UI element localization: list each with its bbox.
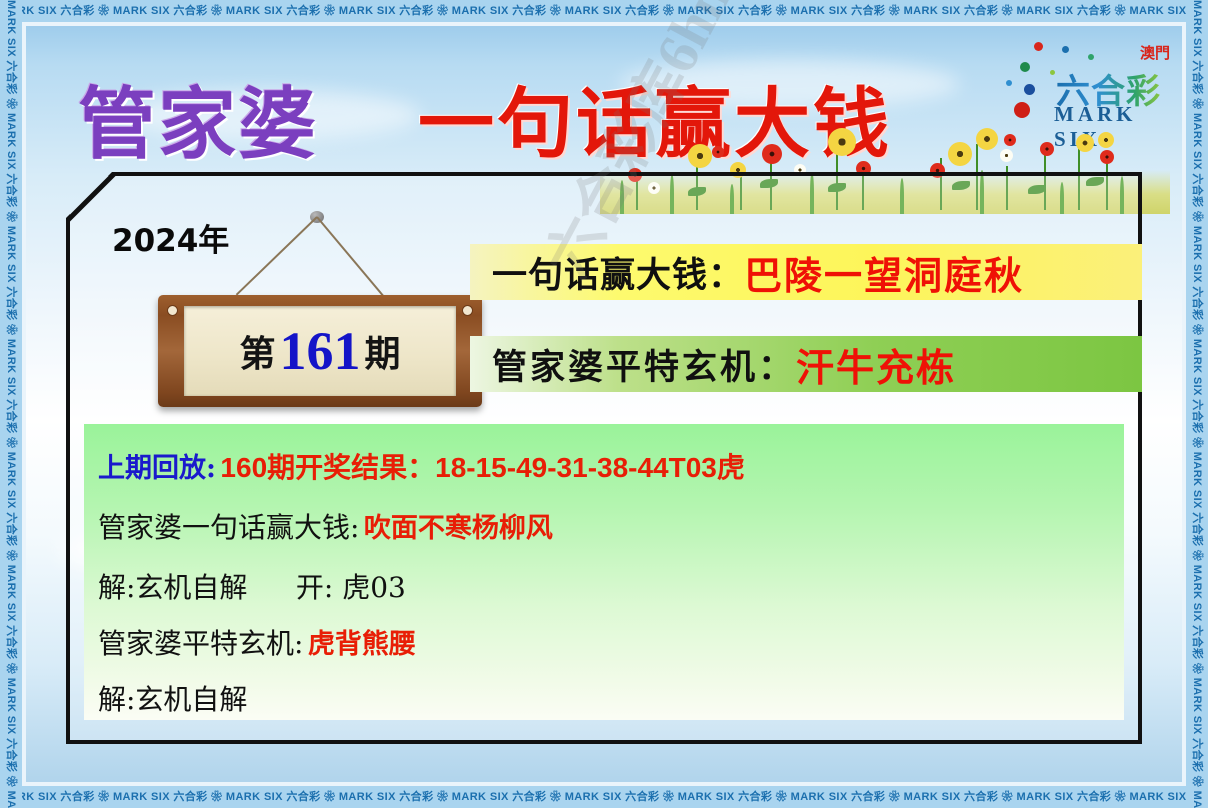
logo-dot-icon	[1050, 70, 1055, 75]
logo-dot-icon	[1024, 84, 1035, 95]
row-key: 上期回放:	[98, 453, 216, 484]
row-key: 管家婆平特玄机:	[98, 627, 303, 660]
logo-dot-icon	[1062, 46, 1069, 53]
mark-six-logo: 澳門 六合彩 MARK SIX	[1004, 40, 1172, 132]
banner-value: 汗牛充栋	[796, 337, 956, 392]
banner-value: 巴陵一望洞庭秋	[744, 245, 1024, 300]
row-value: 吹面不寒杨柳风	[364, 513, 553, 544]
sign-board: 第 161 期	[158, 295, 482, 407]
banner-pingte-answer: 管家婆平特玄机： 汗牛充栋	[470, 336, 1142, 392]
detail-row: 上期回放: 160期开奖结果：18-15-49-31-38-44T03虎	[98, 446, 745, 486]
logo-dot-icon	[1034, 42, 1043, 51]
lottery-poster: MARK SIX 六合彩 ❀ MARK SIX 六合彩 ❀ MARK SIX 六…	[0, 0, 1208, 808]
sign-paper: 第 161 期	[184, 306, 456, 396]
sign-hole-icon	[167, 305, 178, 316]
detail-row: 管家婆一句话赢大钱: 吹面不寒杨柳风	[98, 506, 553, 546]
issue-suffix: 期	[365, 325, 401, 377]
frame-border-bottom: MARK SIX 六合彩 ❀ MARK SIX 六合彩 ❀ MARK SIX 六…	[0, 786, 1208, 808]
sign-hole-icon	[462, 305, 473, 316]
page-title: 管家婆	[78, 62, 318, 174]
rope-right	[316, 216, 390, 303]
row-value: 160期开奖结果：18-15-49-31-38-44T03虎	[220, 452, 744, 483]
issue-number: 161	[276, 327, 365, 376]
row-key: 解:玄机自解	[98, 683, 247, 716]
detail-row: 解:玄机自解	[98, 678, 247, 718]
hanging-issue-sign: 第 161 期	[150, 195, 490, 410]
issue-prefix: 第	[239, 325, 275, 377]
row-key: 管家婆一句话赢大钱:	[98, 511, 359, 544]
issue-text: 第 161 期	[184, 306, 456, 396]
frame-pattern-text: MARK SIX 六合彩 ❀ MARK SIX 六合彩 ❀ MARK SIX 六…	[0, 5, 1208, 17]
banner-label: 一句话赢大钱：	[492, 247, 744, 298]
frame-border-top: MARK SIX 六合彩 ❀ MARK SIX 六合彩 ❀ MARK SIX 六…	[0, 0, 1208, 22]
logo-dot-icon	[1088, 54, 1094, 60]
rope-left	[236, 216, 318, 295]
banner-slogan-answer: 一句话赢大钱： 巴陵一望洞庭秋	[470, 244, 1142, 300]
frame-pattern-text: MARK SIX 六合彩 ❀ MARK SIX 六合彩 ❀ MARK SIX 六…	[0, 791, 1208, 803]
logo-dot-icon	[1020, 62, 1030, 72]
banner-label: 管家婆平特玄机：	[492, 339, 796, 390]
row-value: 开: 虎03	[252, 571, 406, 604]
logo-dot-icon	[1006, 80, 1012, 86]
details-panel: 上期回放: 160期开奖结果：18-15-49-31-38-44T03虎 管家婆…	[84, 424, 1124, 720]
detail-row: 解:玄机自解 开: 虎03	[98, 566, 406, 606]
row-value: 虎背熊腰	[308, 629, 416, 660]
logo-dot-icon	[1014, 102, 1030, 118]
detail-row: 管家婆平特玄机: 虎背熊腰	[98, 622, 416, 662]
row-key: 解:玄机自解	[98, 571, 247, 604]
logo-region-label: 澳門	[1140, 42, 1170, 63]
